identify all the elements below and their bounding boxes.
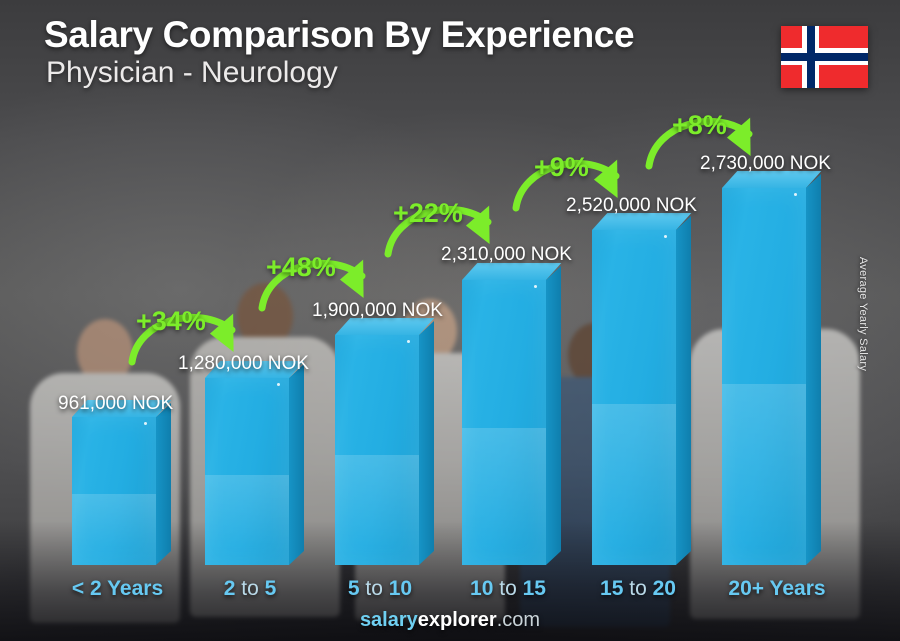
- category-label-1: 2 to 5: [190, 577, 310, 601]
- category-text-4: 15 to 20: [600, 577, 676, 600]
- category-label-2: 5 to 10: [318, 577, 442, 601]
- category-label-3: 10 to 15: [444, 577, 572, 601]
- brand-explorer: explorer: [418, 609, 497, 631]
- category-text-1: 2 to 5: [224, 577, 277, 600]
- growth-label-2: +22%: [393, 198, 463, 229]
- growth-label-0: +34%: [136, 306, 206, 337]
- growth-label-3: +9%: [534, 152, 589, 183]
- category-label-4: 15 to 20: [574, 577, 702, 601]
- chart-canvas: Salary Comparison By Experience Physicia…: [0, 0, 900, 641]
- page-title: Salary Comparison By Experience: [44, 14, 634, 56]
- category-text-5: 20+ Years: [728, 577, 825, 600]
- category-text-3: 10 to 15: [470, 577, 546, 600]
- brand-tld: .com: [497, 609, 540, 631]
- bar-4: [592, 230, 676, 565]
- bar-3: [462, 280, 546, 565]
- growth-label-4: +8%: [672, 110, 727, 141]
- page-subtitle: Physician - Neurology: [46, 56, 338, 90]
- category-label-5: 20+ Years: [702, 577, 852, 601]
- bar-1: [205, 378, 289, 565]
- category-text-0: < 2 Years: [72, 577, 163, 600]
- norway-flag-icon: [781, 26, 868, 88]
- brand-salary: salary: [360, 609, 418, 631]
- growth-label-1: +48%: [266, 252, 336, 283]
- bar-0: [72, 417, 156, 565]
- y-axis-label: Average Yearly Salary: [857, 229, 869, 399]
- bar-5: [722, 188, 806, 565]
- category-label-0: < 2 Years: [50, 577, 185, 601]
- category-text-2: 5 to 10: [348, 577, 412, 600]
- value-label-0: 961,000 NOK: [58, 393, 173, 415]
- site-watermark: salaryexplorer.com: [0, 609, 900, 632]
- bar-2: [335, 335, 419, 565]
